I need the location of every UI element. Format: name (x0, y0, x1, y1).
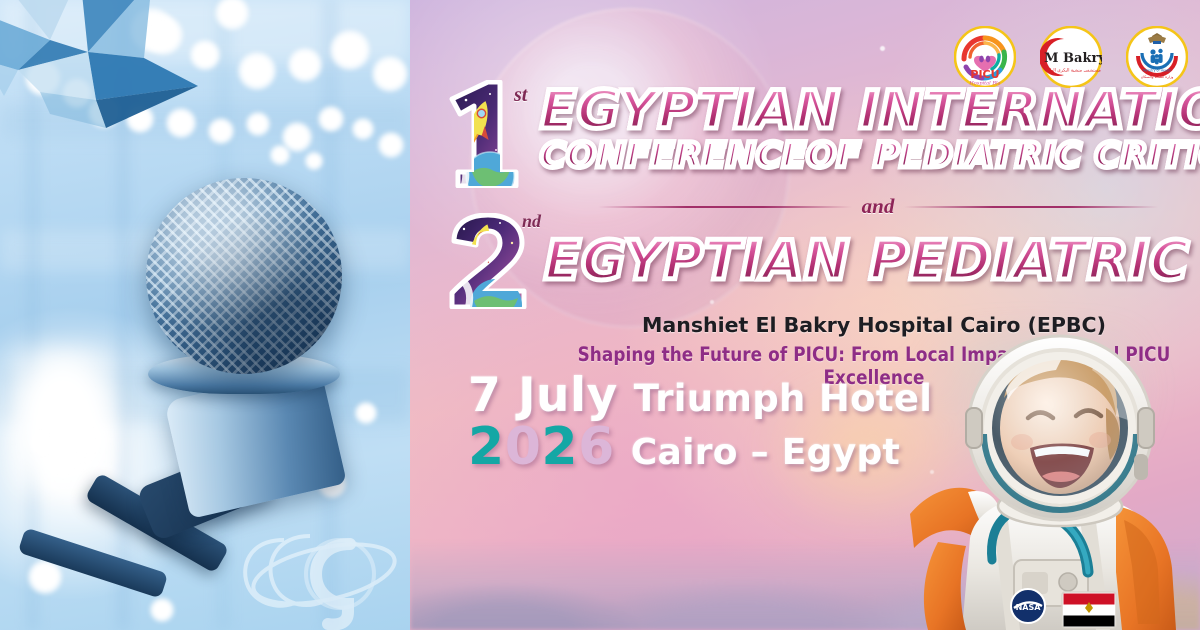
bokeh-light (378, 132, 404, 158)
year-digit: 2 (468, 417, 505, 477)
egypt-ministry-of-health-logo: Ministry of Health وزارة الصحة والسكان (1126, 26, 1188, 88)
title-text-stack-1: EGYPTIAN INTERNATIONAL CONFERENCEOF PEDI… (540, 86, 1200, 174)
egypt-flag-patch (1062, 592, 1116, 628)
right-content-panel: PICU Hospital Bla M Bakry مستشفى منشية ا… (410, 0, 1200, 630)
title-text-stack-2: EGYPTIAN PEDIATRIC ICU (544, 235, 1200, 287)
bokeh-light (305, 152, 323, 170)
moh-logo-text: Ministry of Health (1143, 69, 1171, 73)
bokeh-light (270, 145, 290, 165)
logo-row: PICU Hospital Bla M Bakry مستشفى منشية ا… (954, 26, 1188, 88)
year-digit: 6 (578, 417, 615, 477)
event-date: 7 July (468, 368, 618, 423)
m-bakry-hospital-logo: M Bakry مستشفى منشية البكري العام (1040, 26, 1102, 88)
bokeh-light (30, 430, 56, 456)
title-line-1: st EGYPTIAN INTERNATIONAL CONFERENCEOF P… (438, 80, 1190, 188)
left-image-panel (0, 0, 410, 630)
year-digit: 0 (505, 417, 542, 477)
picu-logo: PICU Hospital Bla (954, 26, 1016, 88)
mic-grille-head (146, 178, 342, 374)
conference-title-main: EGYPTIAN INTERNATIONAL (540, 86, 1200, 137)
polygon-star-graphic (0, 0, 214, 164)
year-digit: 2 (541, 417, 578, 477)
bokeh-light (330, 30, 370, 70)
astronaut-child-image: NASA (910, 324, 1200, 630)
ordinal-suffix-1: st (514, 84, 527, 107)
event-venue-name: Triumph Hotel (634, 377, 932, 420)
bokeh-light (372, 56, 408, 92)
and-label: and (862, 194, 895, 219)
event-info-block: 7 July Triumph Hotel 2026 Cairo – Egypt (468, 368, 932, 477)
numeral-1-graphic: st (438, 80, 530, 188)
m-bakry-logo-text: M Bakry (1044, 51, 1102, 66)
moh-logo-subtext: وزارة الصحة والسكان (1141, 75, 1174, 79)
separator-rule-right (904, 206, 1158, 208)
event-venue-city: Cairo – Egypt (631, 432, 900, 473)
conference-banner: PICU Hospital Bla M Bakry مستشفى منشية ا… (0, 0, 1200, 630)
title-line-2: nd EGYPTIAN PEDIATRIC ICU (438, 213, 1190, 309)
conference-title-sub: CONFERENCEOF PEDIATRIC CRITICAL CARE (540, 139, 1200, 174)
m-bakry-logo-subtext: مستشفى منشية البكري العام (1047, 68, 1101, 74)
bokeh-light (352, 118, 374, 140)
nasa-patch-text: NASA (1016, 603, 1042, 612)
separator-rule-left (598, 206, 852, 208)
bokeh-light (318, 106, 344, 132)
ordinal-suffix-2: nd (522, 211, 541, 232)
date-venue-row-1: 7 July Triumph Hotel (468, 368, 932, 423)
numeral-2-graphic: nd (438, 213, 538, 309)
event-year: 2026 (468, 417, 615, 477)
ccg-watermark-logo (232, 518, 410, 630)
bokeh-light (288, 48, 322, 82)
date-venue-row-2: 2026 Cairo – Egypt (468, 417, 932, 477)
bokeh-light (246, 112, 270, 136)
mic-mesh-shading (146, 178, 342, 374)
bokeh-light (238, 52, 276, 90)
conference-title-2: EGYPTIAN PEDIATRIC ICU (544, 235, 1200, 287)
sparkle (880, 46, 885, 51)
